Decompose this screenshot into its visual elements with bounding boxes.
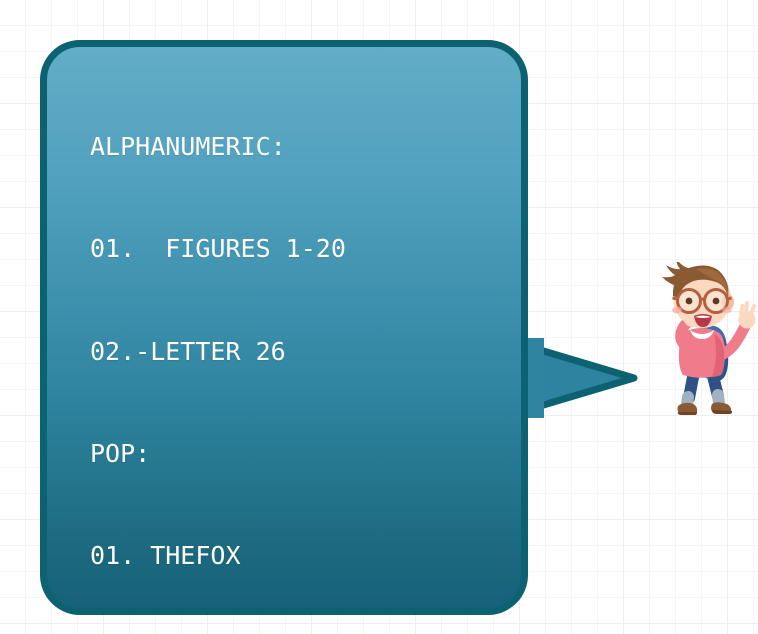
left-eye [686, 298, 693, 305]
cartoon-boy-illustration [640, 262, 758, 422]
head [662, 262, 734, 328]
screenshot-canvas: ALPHANUMERIC: 01. FIGURES 1-20 02.-LETTE… [0, 0, 758, 634]
list-item: 02.-LETTER 26 [90, 335, 520, 369]
list-item: 01. FIGURES 1-20 [90, 232, 520, 266]
speech-bubble-tail-icon [510, 338, 642, 418]
shoes-icon [678, 402, 733, 415]
right-eye [713, 298, 720, 305]
list-item: 01. THEFOX [90, 539, 520, 573]
section-header-alphanumeric: ALPHANUMERIC: [90, 130, 520, 164]
song-list-text: ALPHANUMERIC: 01. FIGURES 1-20 02.-LETTE… [90, 62, 520, 634]
section-header-pop: POP: [90, 437, 520, 471]
speech-bubble: ALPHANUMERIC: 01. FIGURES 1-20 02.-LETTE… [40, 40, 528, 615]
